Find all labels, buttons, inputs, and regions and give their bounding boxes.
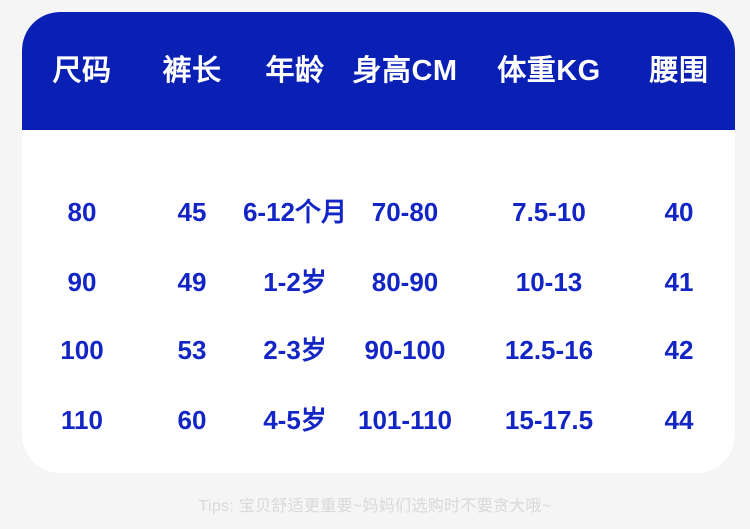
cell-weight: 15-17.5 <box>474 385 624 455</box>
footer-tip: Tips: 宝贝舒适更重要~妈妈们选购时不要贪大哦~ <box>0 492 750 516</box>
column-header-size: 尺码 <box>27 12 137 130</box>
size-chart-body: 80 45 6-12个月 70-80 7.5-10 40 90 49 1-2岁 … <box>22 130 735 473</box>
cell-waist: 42 <box>624 315 734 385</box>
cell-height: 90-100 <box>340 315 470 385</box>
table-row: 110 60 4-5岁 101-110 15-17.5 44 <box>22 385 735 455</box>
cell-height: 70-80 <box>340 177 470 247</box>
cell-weight: 7.5-10 <box>474 177 624 247</box>
cell-waist: 44 <box>624 385 734 455</box>
cell-size: 90 <box>27 247 137 317</box>
size-chart-page: 尺码 裤长 年龄 身高CM 体重KG 腰围 80 45 6-12个月 70-80… <box>0 0 750 529</box>
cell-height: 101-110 <box>340 385 470 455</box>
cell-size: 80 <box>27 177 137 247</box>
cell-waist: 40 <box>624 177 734 247</box>
cell-size: 110 <box>27 385 137 455</box>
cell-size: 100 <box>27 315 137 385</box>
column-header-height: 身高CM <box>340 12 470 130</box>
table-row: 90 49 1-2岁 80-90 10-13 41 <box>22 247 735 317</box>
column-header-weight: 体重KG <box>474 12 624 130</box>
table-row: 80 45 6-12个月 70-80 7.5-10 40 <box>22 177 735 247</box>
size-chart-header: 尺码 裤长 年龄 身高CM 体重KG 腰围 <box>22 12 735 130</box>
table-row: 100 53 2-3岁 90-100 12.5-16 42 <box>22 315 735 385</box>
column-header-waist: 腰围 <box>624 12 734 130</box>
header-row: 尺码 裤长 年龄 身高CM 体重KG 腰围 <box>22 12 735 130</box>
cell-weight: 10-13 <box>474 247 624 317</box>
cell-weight: 12.5-16 <box>474 315 624 385</box>
cell-height: 80-90 <box>340 247 470 317</box>
size-chart-card: 尺码 裤长 年龄 身高CM 体重KG 腰围 80 45 6-12个月 70-80… <box>22 12 735 473</box>
cell-waist: 41 <box>624 247 734 317</box>
